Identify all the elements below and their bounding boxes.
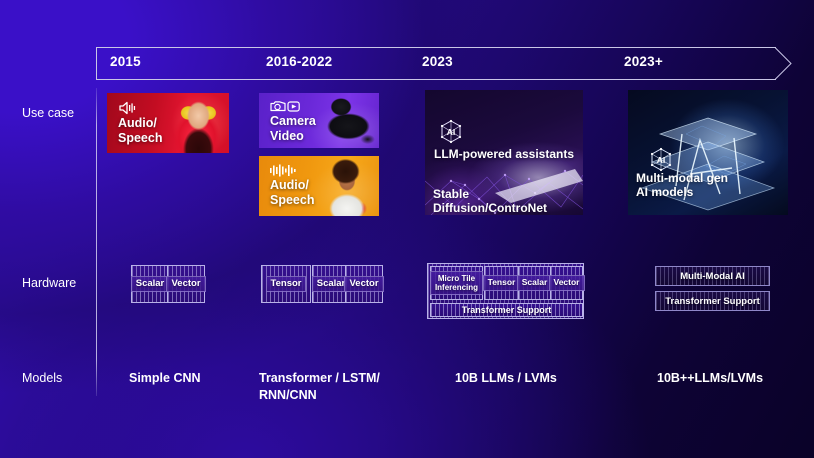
- hardware-block-label: Vector: [549, 275, 585, 291]
- hardware-block-vector-2015[interactable]: Vector: [167, 265, 205, 303]
- svg-text:AI: AI: [447, 127, 456, 137]
- card-subtitle: Stable Diffusion/ControNet: [433, 187, 583, 215]
- hardware-block-label: Scalar: [131, 276, 170, 293]
- use-case-card-audio-speech-2015[interactable]: Audio/ Speech: [107, 93, 229, 153]
- hardware-block-label: Multi-Modal AI: [680, 271, 745, 282]
- card-title: Multi-modal gen AI models: [636, 171, 728, 199]
- hardware-block-label: Vector: [166, 276, 205, 293]
- card-title: Audio/ Speech: [270, 178, 314, 208]
- timeline-arrow-icon: [775, 47, 792, 80]
- hardware-block-label: Scalar: [517, 275, 553, 291]
- card-title: Audio/ Speech: [118, 116, 162, 146]
- hardware-block-label: Transformer Support: [665, 296, 760, 307]
- hardware-bar-transformer-support-2023-plus[interactable]: Transformer Support: [655, 291, 770, 311]
- hardware-bar-transformer-support-2023[interactable]: Transformer Support: [430, 303, 583, 317]
- models-text-2023-plus: 10B++LLMs/LVMs: [657, 370, 763, 387]
- hardware-block-label: Micro Tile Inferencing: [430, 271, 483, 295]
- models-text-2015: Simple CNN: [129, 370, 201, 387]
- hardware-block-scalar-2015[interactable]: Scalar: [131, 265, 169, 303]
- hardware-block-label: Vector: [344, 276, 383, 293]
- svg-text:AI: AI: [657, 155, 666, 165]
- hardware-block-tensor-2016[interactable]: Tensor: [261, 265, 311, 303]
- hardware-block-vector-2023[interactable]: Vector: [550, 266, 583, 300]
- models-text-2016-2022: Transformer / LSTM/ RNN/CNN: [259, 370, 380, 404]
- hardware-block-label: Tensor: [483, 275, 521, 291]
- use-case-card-audio-speech-2016[interactable]: Audio/ Speech: [259, 156, 379, 216]
- models-text-2023: 10B LLMs / LVMs: [455, 370, 557, 387]
- card-title: LLM-powered assistants: [434, 147, 574, 161]
- row-label-hardware: Hardware: [22, 276, 74, 290]
- row-label-use-case: Use case: [22, 106, 74, 120]
- use-case-card-camera-video[interactable]: Camera Video: [259, 93, 379, 148]
- use-case-card-multimodal-genai[interactable]: AI Multi-modal gen AI models: [628, 90, 788, 215]
- card-photo: [307, 95, 379, 148]
- hardware-block-vector-2016[interactable]: Vector: [345, 265, 383, 303]
- ai-node-icon: AI: [436, 117, 466, 147]
- card-title: Camera Video: [270, 114, 316, 144]
- timeline-period-2023: 2023: [422, 54, 453, 69]
- row-label-models: Models: [22, 371, 74, 385]
- timeline-period-2023-plus: 2023+: [624, 54, 663, 69]
- card-photo: [312, 157, 379, 216]
- hardware-block-micro-tile-inferencing[interactable]: Micro Tile Inferencing: [430, 266, 483, 300]
- slide-canvas: 2015 2016-2022 2023 2023+ Use case Hardw…: [0, 0, 814, 458]
- hardware-block-label: Tensor: [266, 276, 307, 293]
- hardware-bar-multimodal-ai[interactable]: Multi-Modal AI: [655, 266, 770, 286]
- timeline-period-2015: 2015: [110, 54, 141, 69]
- vertical-divider: [96, 88, 97, 396]
- hardware-block-scalar-2023[interactable]: Scalar: [518, 266, 551, 300]
- use-case-card-llm-assistants[interactable]: AI LLM-powered assistants Stable Diffusi…: [425, 90, 583, 215]
- hardware-block-tensor-2023[interactable]: Tensor: [484, 266, 519, 300]
- timeline-period-2016-2022: 2016-2022: [266, 54, 332, 69]
- card-photo: [161, 93, 229, 153]
- hardware-block-label: Transformer Support: [462, 305, 552, 315]
